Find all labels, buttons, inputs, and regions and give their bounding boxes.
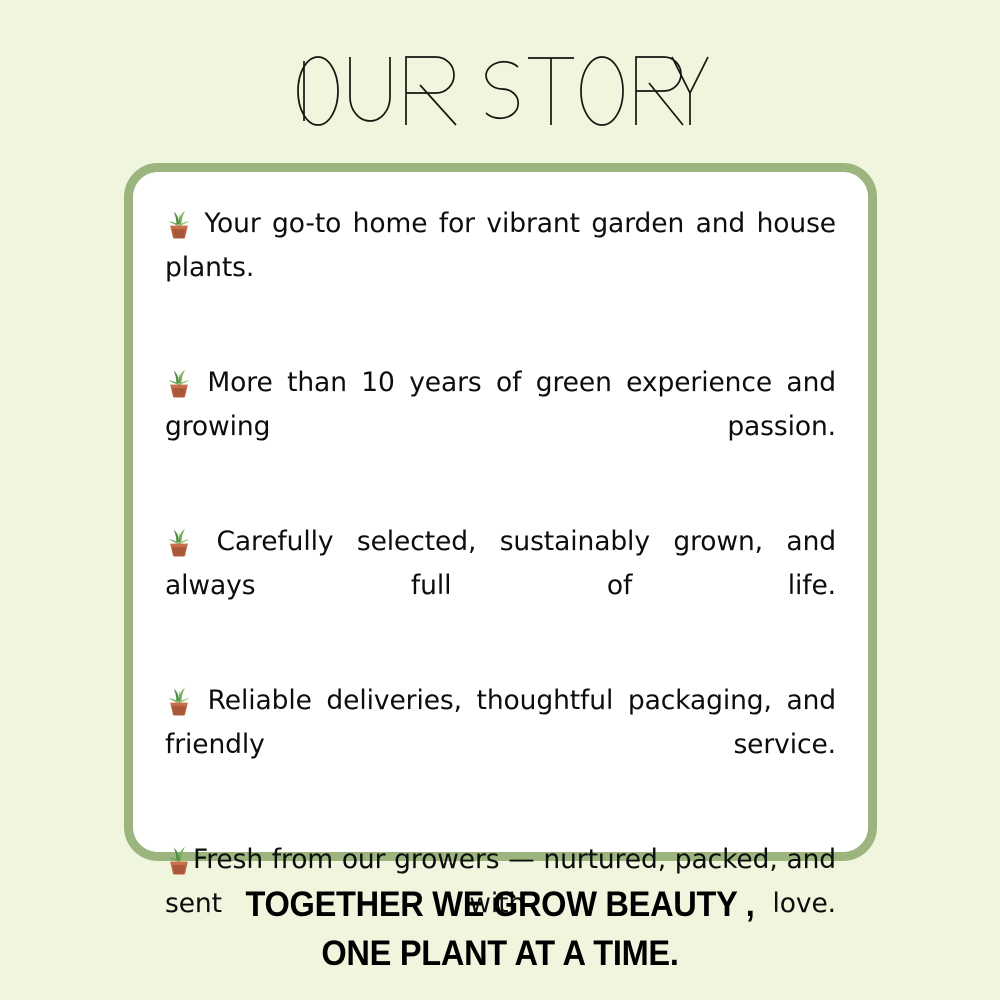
potted-plant-icon bbox=[165, 686, 193, 716]
tagline-line-2: ONE PLANT AT A TIME. bbox=[35, 929, 965, 978]
list-item-text: Carefully selected, sustainably grown, a… bbox=[165, 526, 836, 601]
story-card-content: Your go-to home for vibrant garden and h… bbox=[165, 202, 836, 970]
list-item: Carefully selected, sustainably grown, a… bbox=[165, 520, 836, 652]
potted-plant-icon bbox=[165, 527, 193, 557]
potted-plant-icon bbox=[165, 845, 193, 875]
page-title-artwork bbox=[290, 55, 710, 127]
potted-plant-icon bbox=[165, 209, 193, 239]
potted-plant-icon bbox=[165, 368, 193, 398]
list-item: More than 10 years of green experience a… bbox=[165, 361, 836, 493]
story-card: Your go-to home for vibrant garden and h… bbox=[124, 163, 877, 861]
list-item: Your go-to home for vibrant garden and h… bbox=[165, 202, 836, 334]
list-item-text: Reliable deliveries, thoughtful packagin… bbox=[165, 685, 836, 760]
list-item-text: More than 10 years of green experience a… bbox=[165, 367, 836, 442]
page-title-container: OUR STORY: bbox=[0, 55, 1000, 132]
poster-canvas: OUR STORY: Your go-to home for vi bbox=[0, 0, 1000, 1000]
list-item-text: Your go-to home for vibrant garden and h… bbox=[165, 208, 836, 283]
tagline-line-1: TOGETHER WE GROW BEAUTY , bbox=[35, 880, 965, 929]
tagline: TOGETHER WE GROW BEAUTY , ONE PLANT AT A… bbox=[0, 880, 1000, 978]
list-item: Reliable deliveries, thoughtful packagin… bbox=[165, 679, 836, 811]
